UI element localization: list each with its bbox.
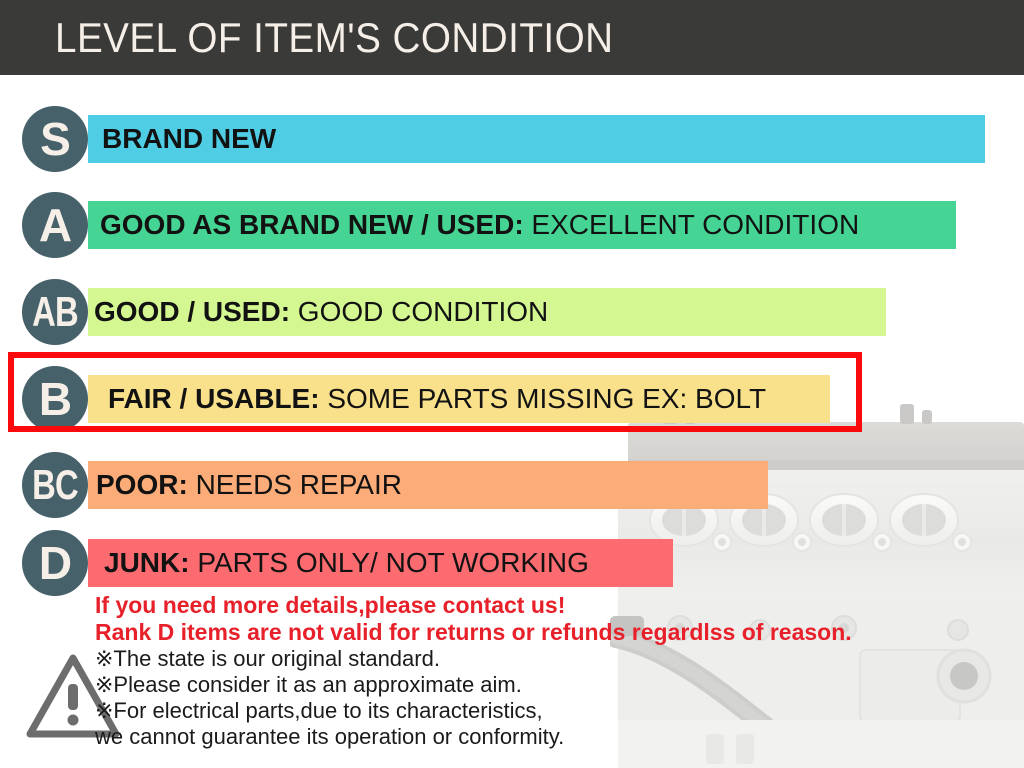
rank-detail-a: EXCELLENT CONDITION bbox=[531, 209, 859, 240]
rank-text-a: GOOD AS BRAND NEW / USED: EXCELLENT COND… bbox=[100, 201, 859, 249]
rank-badge-letter: D bbox=[22, 530, 88, 596]
rank-badge-d: D bbox=[22, 530, 88, 596]
page-title: LEVEL OF ITEM'S CONDITION bbox=[55, 14, 613, 62]
notice-black-line-2: ※Please consider it as an approximate ai… bbox=[95, 672, 1000, 698]
rank-badge-a: A bbox=[22, 192, 88, 258]
rank-label-ab: GOOD / USED: bbox=[94, 296, 290, 327]
rank-row-a: A GOOD AS BRAND NEW / USED: EXCELLENT CO… bbox=[0, 188, 1024, 262]
rank-b-highlight-box bbox=[8, 352, 862, 432]
rank-badge-letter: A bbox=[22, 192, 88, 258]
rank-row-d: D JUNK: PARTS ONLY/ NOT WORKING bbox=[0, 526, 1024, 600]
rank-text-s: BRAND NEW bbox=[102, 115, 276, 163]
condition-chart-page: LEVEL OF ITEM'S CONDITION S BRAND NEW A … bbox=[0, 0, 1024, 768]
rank-text-d: JUNK: PARTS ONLY/ NOT WORKING bbox=[104, 539, 589, 587]
rank-row-ab: AB GOOD / USED: GOOD CONDITION bbox=[0, 275, 1024, 349]
rank-label-a: GOOD AS BRAND NEW / USED: bbox=[100, 209, 524, 240]
rank-label-bc: POOR: bbox=[96, 469, 188, 500]
notice-black-line-1: ※The state is our original standard. bbox=[95, 646, 1000, 672]
rank-row-bc: BC POOR: NEEDS REPAIR bbox=[0, 448, 1024, 522]
rank-detail-d: PARTS ONLY/ NOT WORKING bbox=[197, 547, 589, 578]
rank-badge-s: S bbox=[22, 106, 88, 172]
notice-block: If you need more details,please contact … bbox=[95, 592, 1000, 750]
rank-text-ab: GOOD / USED: GOOD CONDITION bbox=[94, 288, 548, 336]
rank-badge-letter: AB bbox=[29, 279, 80, 345]
rank-row-s: S BRAND NEW bbox=[0, 102, 1024, 176]
rank-badge-letter: BC bbox=[29, 452, 80, 518]
notice-black-line-3: ※For electrical parts,due to its charact… bbox=[95, 698, 1000, 724]
notice-black-line-4: we cannot guarantee its operation or con… bbox=[95, 724, 1000, 750]
rank-badge-bc: BC bbox=[22, 452, 88, 518]
rank-detail-ab: GOOD CONDITION bbox=[298, 296, 548, 327]
rank-detail-bc: NEEDS REPAIR bbox=[196, 469, 402, 500]
notice-red-line-1: If you need more details,please contact … bbox=[95, 592, 1000, 619]
rank-badge-letter: S bbox=[22, 106, 88, 172]
rank-label-d: JUNK: bbox=[104, 547, 190, 578]
rank-text-bc: POOR: NEEDS REPAIR bbox=[96, 461, 402, 509]
rank-badge-ab: AB bbox=[22, 279, 88, 345]
notice-red-line-2: Rank D items are not valid for returns o… bbox=[95, 619, 1000, 646]
rank-label-s: BRAND NEW bbox=[102, 123, 276, 154]
